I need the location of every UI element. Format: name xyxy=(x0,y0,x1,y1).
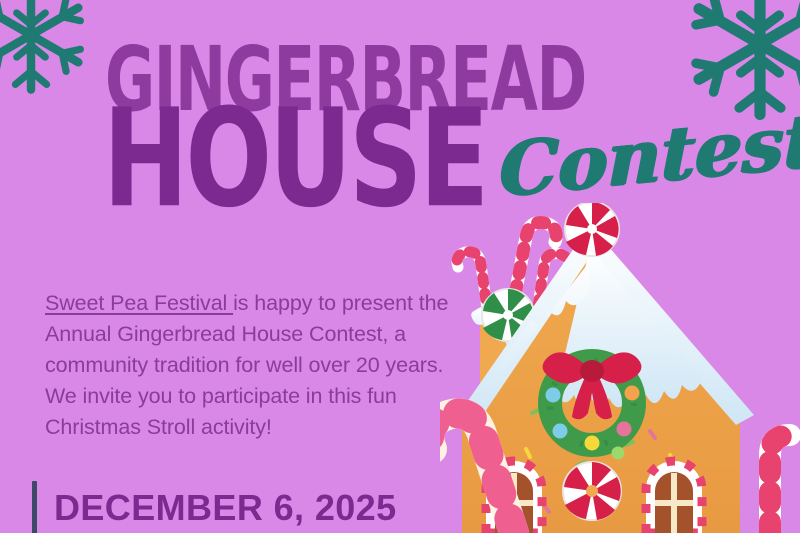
date-accent-bar xyxy=(32,481,37,533)
peppermint-candy xyxy=(563,462,621,520)
peppermint-candy xyxy=(565,203,619,256)
title-line-house: HOUSE xyxy=(103,96,486,221)
gingerbread-house-illustration xyxy=(440,203,800,533)
date-text: DECEMBER 6, 2025 xyxy=(54,487,397,529)
body-paragraph: Sweet Pea Festival is happy to present t… xyxy=(45,288,465,443)
event-date: DECEMBER 6, 2025 xyxy=(32,481,397,533)
snowflake-icon xyxy=(0,0,96,100)
candy-cane xyxy=(770,435,790,533)
sweet-pea-festival-link[interactable]: Sweet Pea Festival xyxy=(45,291,233,315)
page-title: GINGERBREAD HOUSE Contest xyxy=(95,38,695,223)
arched-window xyxy=(646,461,702,533)
poster-canvas: GINGERBREAD HOUSE Contest Sweet Pea Fest… xyxy=(0,0,800,533)
